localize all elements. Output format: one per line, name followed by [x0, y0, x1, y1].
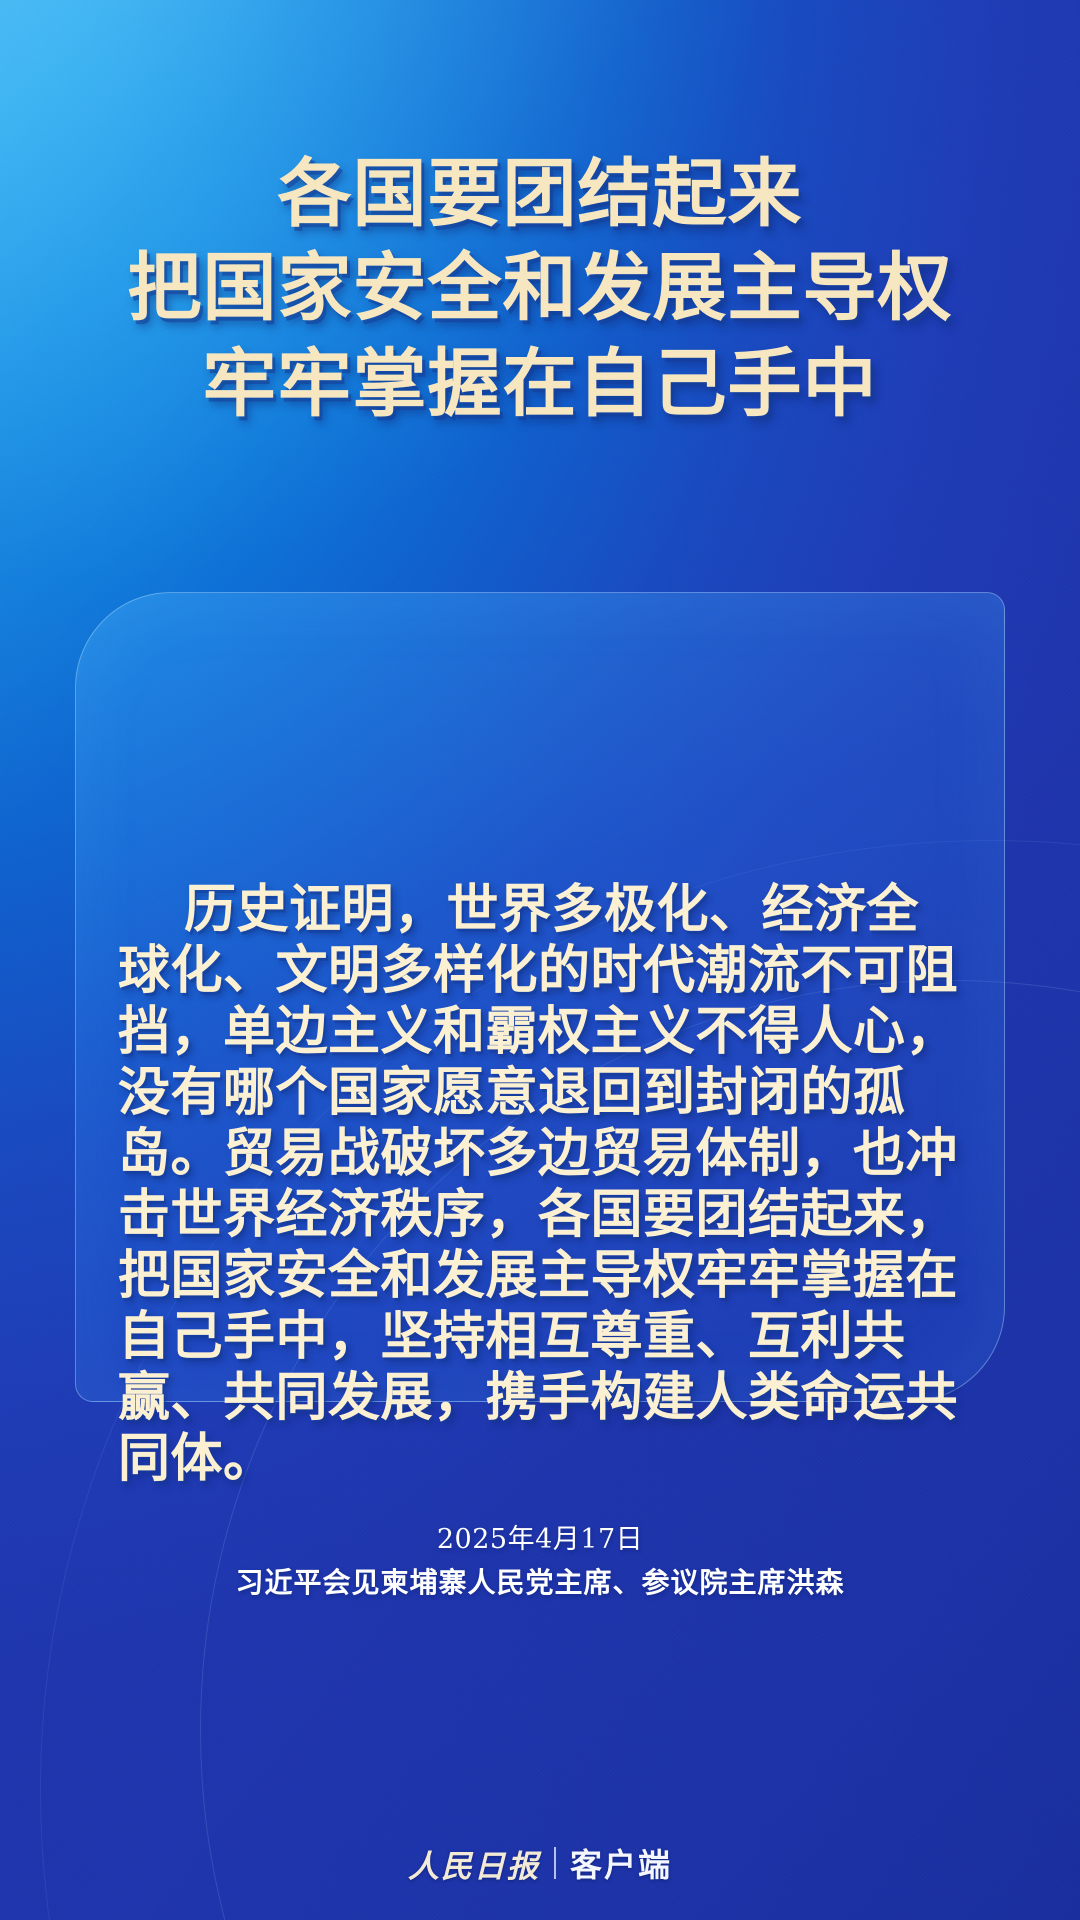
app-label: 客户端 — [570, 1840, 672, 1886]
headline-line-2: 把国家安全和发展主导权 — [0, 240, 1080, 336]
peoples-daily-logo: 人民日报 — [408, 1841, 540, 1886]
quote-source-event: 习近平会见柬埔寨人民党主席、参议院主席洪森 — [75, 1560, 1005, 1606]
headline-line-1: 各国要团结起来 — [0, 148, 1080, 240]
brand-divider-icon — [554, 1847, 556, 1879]
quote-date: 2025年4月17日 — [75, 1520, 1005, 1560]
poster-canvas: 各国要团结起来 把国家安全和发展主导权 牢牢掌握在自己手中 历史证明，世界多极化… — [0, 0, 1080, 1920]
quote-attribution-block: 2025年4月17日 习近平会见柬埔寨人民党主席、参议院主席洪森 — [75, 1520, 1005, 1606]
footer-branding: 人民日报 客户端 — [0, 1838, 1080, 1888]
headline-line-3: 牢牢掌握在自己手中 — [0, 336, 1080, 432]
quote-body-text: 历史证明，世界多极化、经济全球化、文明多样化的时代潮流不可阻挡，单边主义和霸权主… — [118, 880, 968, 1490]
page-title: 各国要团结起来 把国家安全和发展主导权 牢牢掌握在自己手中 — [0, 148, 1080, 432]
